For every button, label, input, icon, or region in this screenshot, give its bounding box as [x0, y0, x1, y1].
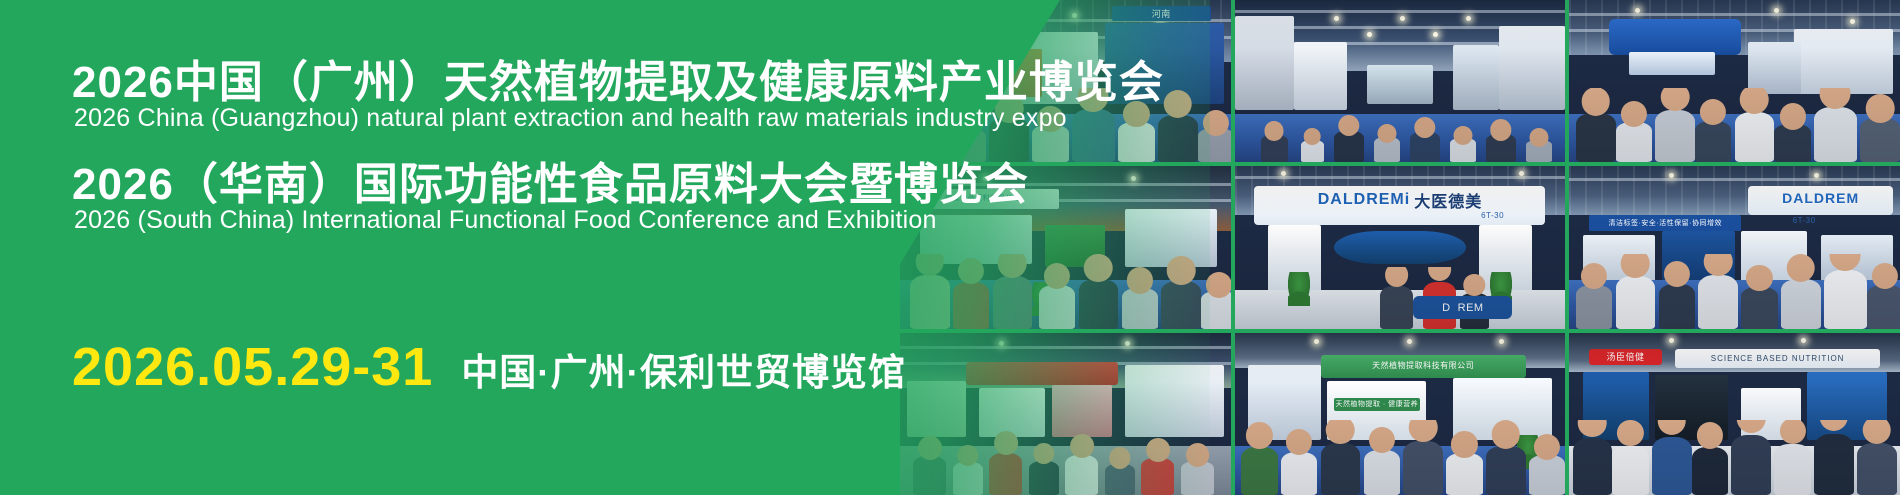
exhibition-banner: 河南 — [0, 0, 1900, 495]
collage-photo-3 — [1569, 0, 1900, 162]
headline-block: 2026中国（广州）天然植物提取及健康原料产业博览会 2026 China (G… — [72, 0, 1252, 495]
event-date: 2026.05.29-31 — [72, 336, 433, 398]
english-title-secondary: 2026 (South China) International Functio… — [74, 206, 937, 235]
chinese-title-primary: 2026中国（广州）天然植物提取及健康原料产业博览会 — [72, 46, 1164, 110]
event-date-venue-row: 2026.05.29-31 中国·广州·保利世贸博览馆 — [72, 336, 906, 398]
english-title-primary: 2026 China (Guangzhou) natural plant ext… — [74, 104, 1067, 133]
collage-photo-9: 汤臣倍健 SCIENCE BASED NUTRITION — [1569, 333, 1900, 495]
collage-photo-5: DALDREMi 大医德美 6T-30 D REM — [1235, 166, 1566, 328]
collage-photo-6: DALDREM 清洁标签·安全·活性保留·协同增效 6T-30 — [1569, 166, 1900, 328]
collage-photo-8: 天然植物提取科技有限公司 天然植物提取 · 健康营养 — [1235, 333, 1566, 495]
event-venue: 中国·广州·保利世贸博览馆 — [461, 342, 906, 396]
chinese-title-secondary: 2026（华南）国际功能性食品原料大会暨博览会 — [72, 148, 1029, 212]
collage-photo-2 — [1235, 0, 1566, 162]
